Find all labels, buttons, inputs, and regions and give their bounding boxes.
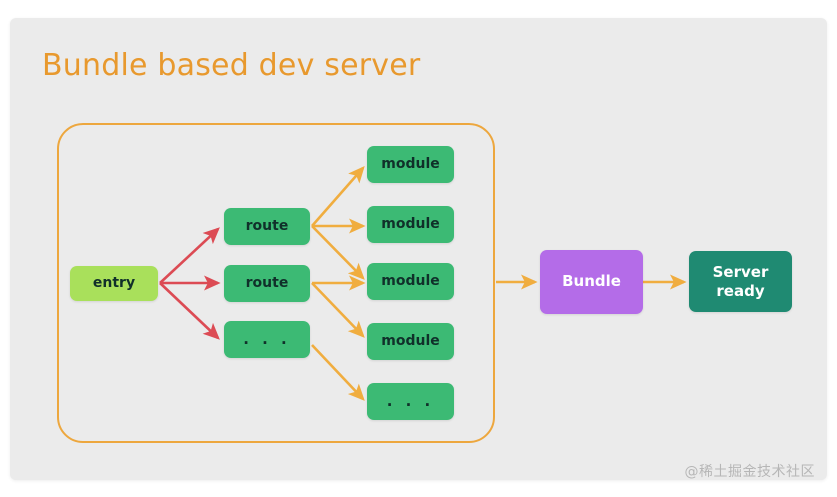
- slide-canvas: Bundle based dev server: [0, 0, 837, 497]
- node-module-1[interactable]: module: [367, 146, 454, 183]
- node-module-5[interactable]: . . .: [367, 383, 454, 420]
- node-module-3[interactable]: module: [367, 263, 454, 300]
- server-ready-line-1: Server: [713, 263, 769, 282]
- node-server-ready[interactable]: Server ready: [689, 251, 792, 312]
- node-route-3[interactable]: . . .: [224, 321, 310, 358]
- watermark: @稀土掘金技术社区: [685, 461, 816, 481]
- node-bundle[interactable]: Bundle: [540, 250, 643, 314]
- node-entry[interactable]: entry: [70, 266, 158, 301]
- node-route-2[interactable]: route: [224, 265, 310, 302]
- server-ready-line-2: ready: [716, 282, 764, 301]
- page-title: Bundle based dev server: [42, 48, 420, 83]
- node-module-4[interactable]: module: [367, 323, 454, 360]
- node-route-1[interactable]: route: [224, 208, 310, 245]
- node-module-2[interactable]: module: [367, 206, 454, 243]
